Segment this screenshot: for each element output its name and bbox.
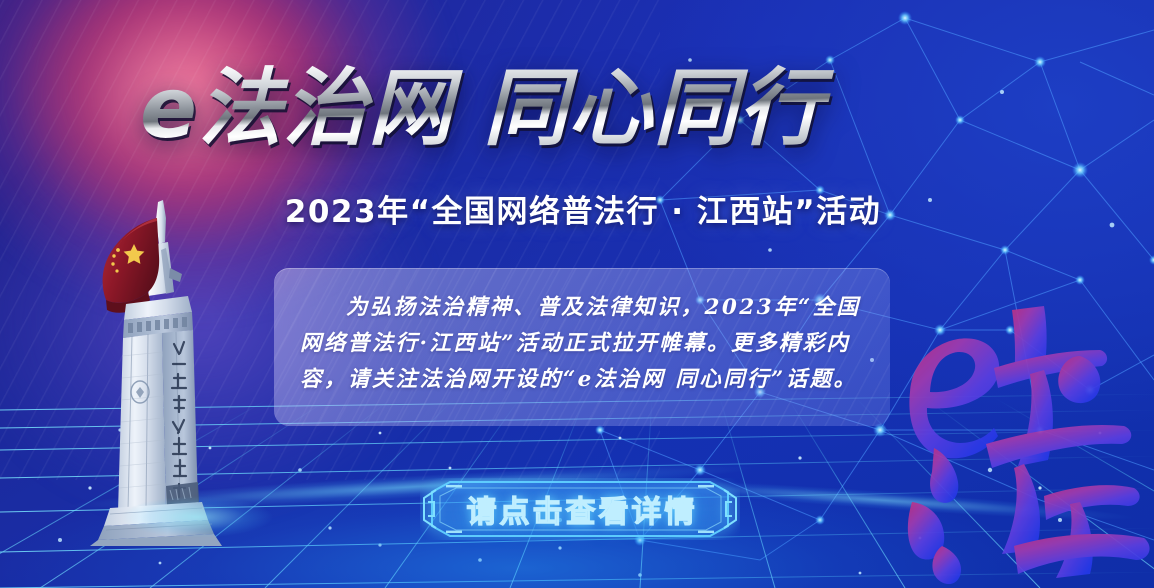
banner-subtitle: 2023年“全国网络普法行 · 江西站”活动	[0, 186, 1154, 231]
bayi-monument	[62, 196, 252, 546]
description-text: 为弘扬法治精神、普及法律知识，2023年“全国网络普法行·江西站”活动正式拉开帷…	[274, 268, 890, 398]
title-text: e法治网 同心同行	[140, 54, 1020, 162]
cta-label: 请点击查看详情	[420, 478, 740, 540]
view-details-button[interactable]: 请点击查看详情	[420, 478, 740, 540]
promo-banner: e法治网 同心同行 2023年“全国网络普法行 · 江西站”活动 为弘扬法治精神…	[0, 0, 1154, 588]
description-panel: 为弘扬法治精神、普及法律知识，2023年“全国网络普法行·江西站”活动正式拉开帷…	[274, 268, 890, 426]
red-flag-icon	[103, 218, 160, 313]
banner-title: e法治网 同心同行	[140, 54, 1020, 166]
monument-base-glow	[102, 482, 292, 552]
